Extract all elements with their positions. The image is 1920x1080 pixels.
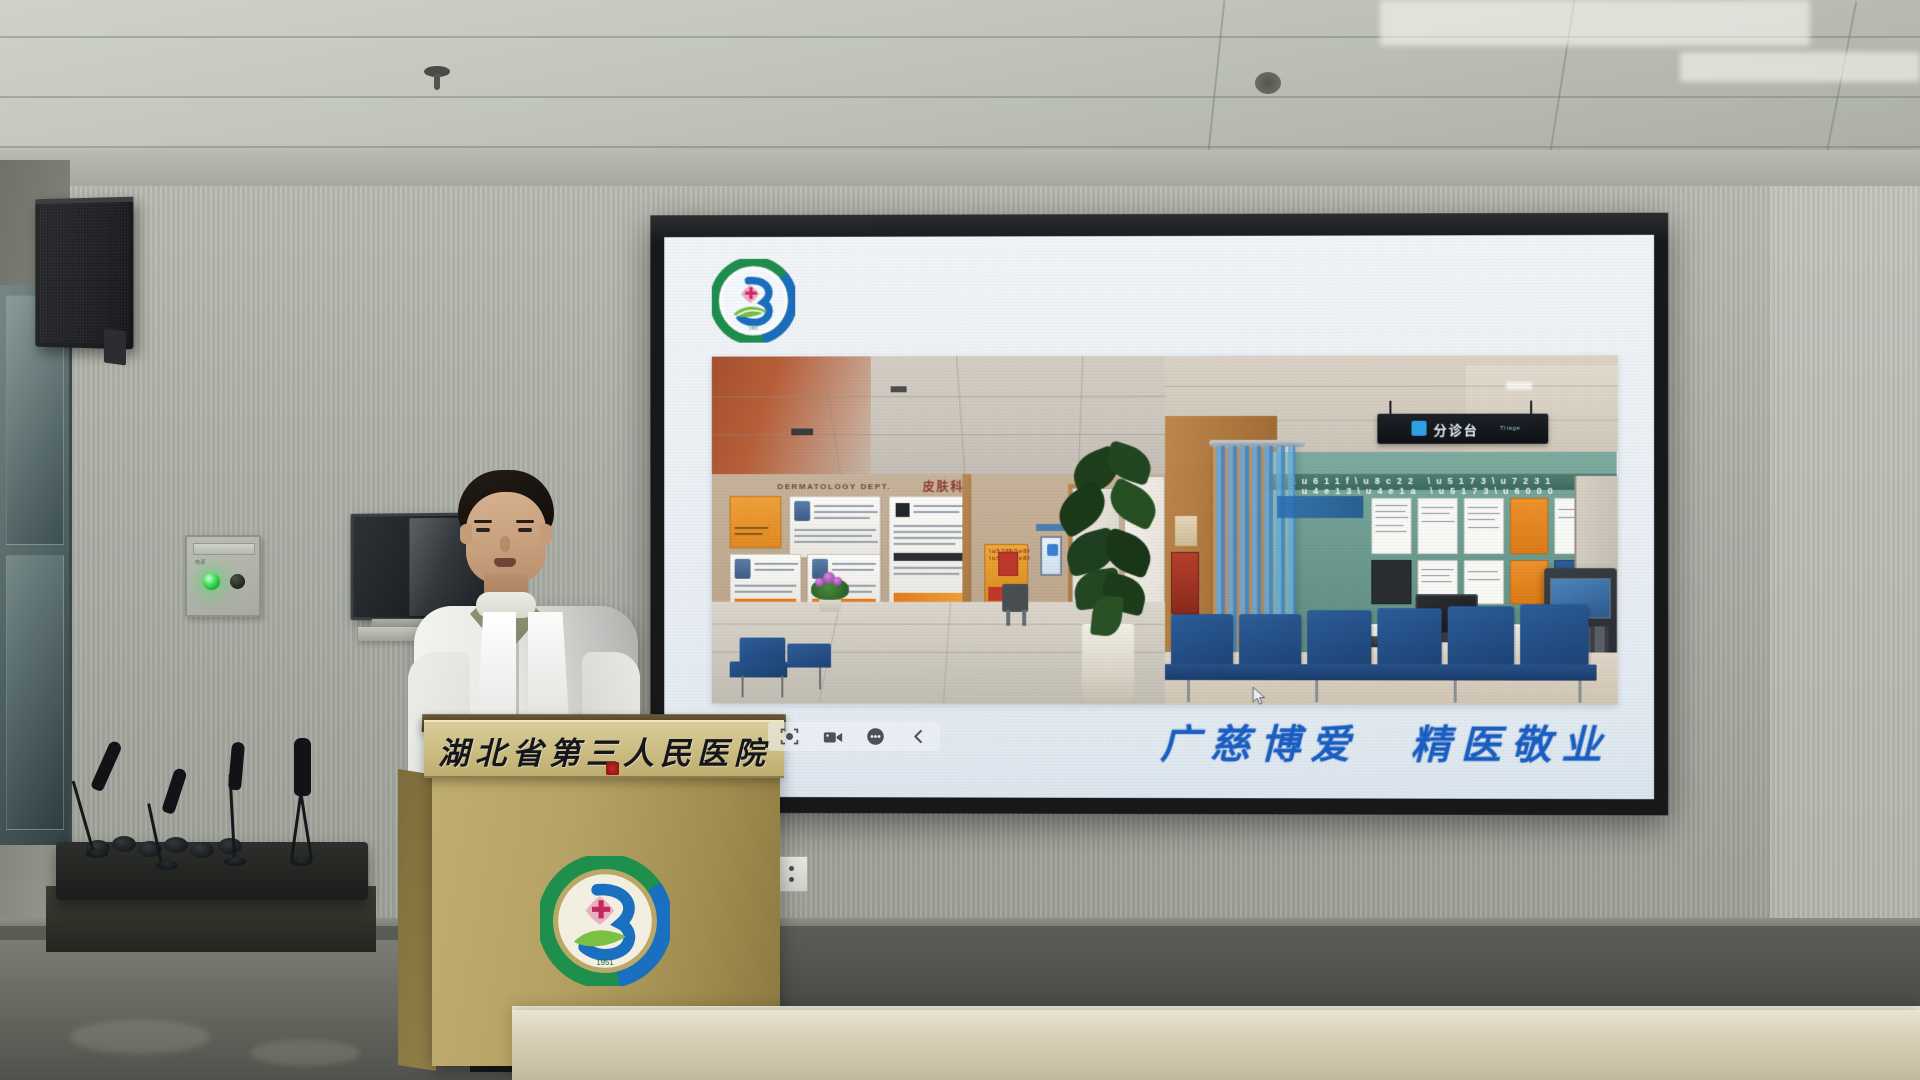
right-wall: [1770, 186, 1920, 946]
lectern-hospital-emblem-icon: 1951: [540, 856, 670, 986]
microphone-1[interactable]: [86, 740, 126, 852]
svg-text:1951: 1951: [749, 325, 759, 330]
wall-loudspeaker: [35, 197, 133, 350]
waiting-seats-row: [1165, 596, 1618, 705]
ceiling-sprinkler-icon: [424, 66, 450, 90]
camcorder-icon[interactable]: [821, 725, 844, 748]
panel-label-strip: [193, 543, 255, 555]
back-chevron-icon[interactable]: [907, 725, 930, 748]
projection-screen-surface[interactable]: 1951 DERMATOLOGY DEPT.: [664, 235, 1654, 799]
emblem-year: 1951: [596, 958, 613, 967]
microphone-4[interactable]: [284, 738, 324, 860]
lectern-seal-icon: [606, 762, 619, 775]
dermatology-sign-en: DERMATOLOGY DEPT.: [777, 482, 891, 491]
dermatology-sign-cn: 皮肤科: [923, 478, 965, 495]
more-icon[interactable]: [864, 725, 887, 748]
foreground-table: [512, 1010, 1920, 1080]
glass-cabinet: [0, 285, 72, 845]
lectern-name-plate: 湖北省第三人民医院: [424, 720, 784, 778]
triage-wall-slogan: \u611f\u8c22 \u5173\u7231 \u4e13\u4e1a \…: [1293, 476, 1618, 496]
triage-sign-en: Triage: [1500, 426, 1521, 432]
capture-icon[interactable]: [778, 725, 801, 748]
triage-sign-cn: 分诊台: [1434, 420, 1479, 439]
microphone-2[interactable]: [156, 768, 192, 864]
ceiling-vent-icon: [1255, 72, 1281, 94]
microphone-3[interactable]: [224, 742, 258, 860]
slide-photo-triage-station: \u611f\u8c22 \u5173\u7231 \u4e13\u4e1a \…: [1165, 355, 1618, 704]
conference-room-scene: 电源: [0, 0, 1920, 1080]
lectern-side: [398, 769, 436, 1071]
mouse-cursor-icon: [1252, 686, 1266, 706]
slide-foreground-plant: [1048, 446, 1168, 708]
triage-sign-symbol-icon: [1412, 421, 1427, 436]
video-control-bar[interactable]: [768, 722, 940, 751]
panel-label-text: 电源: [195, 559, 206, 566]
hospital-logo-icon: 1951: [712, 259, 795, 343]
lectern-name-text: 湖北省第三人民医院: [438, 728, 771, 773]
triage-sign: 分诊台 Triage: [1377, 414, 1548, 444]
slide-slogan: 广慈博爱 精医敬业: [1160, 712, 1612, 771]
wall-control-panel[interactable]: 电源: [185, 535, 261, 617]
power-indicator-icon: [203, 573, 220, 590]
panel-button[interactable]: [230, 574, 245, 589]
speaker-bracket: [104, 328, 126, 365]
